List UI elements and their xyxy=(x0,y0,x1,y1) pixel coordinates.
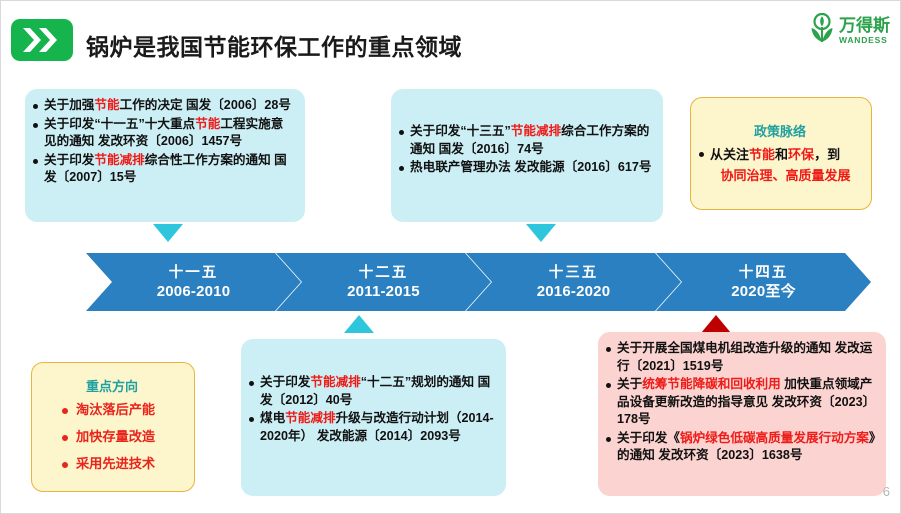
page-title: 锅炉是我国节能环保工作的重点领域 xyxy=(86,28,462,62)
timeline-label-cn: 十四五 xyxy=(739,264,789,282)
brand-name-cn: 万得斯 xyxy=(839,17,890,34)
timeline-label-years: 2016-2020 xyxy=(537,282,611,301)
plan-11th-bullet-list: 关于加强节能工作的决定 国发〔2006〕28号 关于印发“十一五”十大重点节能工… xyxy=(33,97,295,187)
list-item: 关于印发“十一五”十大重点节能工程实施意见的通知 发改环资〔2006〕1457号 xyxy=(33,116,295,151)
list-item: 煤电节能减排升级与改造行动计划（2014-2020年） 发改能源〔2014〕20… xyxy=(249,410,496,445)
policy-context-line2: 协同治理、高质量发展 xyxy=(699,166,861,186)
card-plan-11th: 关于加强节能工作的决定 国发〔2006〕28号 关于印发“十一五”十大重点节能工… xyxy=(25,89,305,222)
list-item: 从关注节能和环保，到 xyxy=(699,145,861,165)
timeline-label-years: 2006-2010 xyxy=(157,282,231,301)
policy-context-list: 从关注节能和环保，到 xyxy=(699,145,861,166)
list-item: 关于印发节能减排综合性工作方案的通知 国发〔2007〕15号 xyxy=(33,152,295,187)
card-key-directions: 重点方向 淘汰落后产能 加快存量改造 采用先进技术 xyxy=(31,362,195,492)
timeline-chevrons: 十一五 2006-2010 十二五 2011-2015 十三五 2016-202… xyxy=(1,253,901,315)
timeline-label-years: 2011-2015 xyxy=(347,282,420,301)
timeline-label-cn: 十二五 xyxy=(359,264,409,282)
list-item: 采用先进技术 xyxy=(62,451,184,477)
slide-canvas: 锅炉是我国节能环保工作的重点领域 万得斯 WANDESS 关于加强节能工作的决定… xyxy=(0,0,901,514)
timeline-label-cn: 十一五 xyxy=(169,264,219,282)
list-item: 关于印发《锅炉绿色低碳高质量发展行动方案》的通知 发改环资〔2023〕1638号 xyxy=(606,430,876,465)
card-plan-14th: 关于开展全国煤电机组改造升级的通知 发改运行〔2021〕1519号 关于统筹节能… xyxy=(598,332,886,496)
connector-triangle-up-14th xyxy=(701,315,731,333)
card-plan-12th: 关于印发节能减排“十二五”规划的通知 国发〔2012〕40号 煤电节能减排升级与… xyxy=(241,339,506,496)
timeline-item-12th[interactable]: 十二五 2011-2015 xyxy=(276,253,491,311)
list-item: 关于印发“十三五”节能减排综合工作方案的通知 国发〔2016〕74号 xyxy=(399,123,653,158)
plan-14th-bullet-list: 关于开展全国煤电机组改造升级的通知 发改运行〔2021〕1519号 关于统筹节能… xyxy=(606,340,876,465)
timeline-label-cn: 十三五 xyxy=(549,264,599,282)
list-item: 淘汰落后产能 xyxy=(62,397,184,423)
plan-12th-bullet-list: 关于印发节能减排“十二五”规划的通知 国发〔2012〕40号 煤电节能减排升级与… xyxy=(249,347,496,445)
connector-triangle-down-13th xyxy=(526,224,556,242)
timeline-item-13th[interactable]: 十三五 2016-2020 xyxy=(466,253,681,311)
card-plan-13th: 关于印发“十三五”节能减排综合工作方案的通知 国发〔2016〕74号 热电联产管… xyxy=(391,89,663,222)
key-directions-heading: 重点方向 xyxy=(40,376,184,395)
list-item: 关于印发节能减排“十二五”规划的通知 国发〔2012〕40号 xyxy=(249,374,496,409)
timeline-label-years: 2020至今 xyxy=(731,282,796,301)
timeline-item-14th[interactable]: 十四五 2020至今 xyxy=(656,253,871,311)
list-item: 关于统筹节能降碳和回收利用 加快重点领域产品设备更新改造的指导意见 发改环资〔2… xyxy=(606,376,876,429)
wandess-leaf-logo-icon xyxy=(809,13,835,48)
card-policy-context: 政策脉络 从关注节能和环保，到 协同治理、高质量发展 xyxy=(690,97,872,210)
plan-13th-bullet-list: 关于印发“十三五”节能减排综合工作方案的通知 国发〔2016〕74号 热电联产管… xyxy=(399,97,653,177)
policy-context-heading: 政策脉络 xyxy=(699,121,861,140)
list-item: 关于加强节能工作的决定 国发〔2006〕28号 xyxy=(33,97,295,115)
brand-name-en: WANDESS xyxy=(839,36,890,45)
list-item: 加快存量改造 xyxy=(62,424,184,450)
timeline-item-11th[interactable]: 十一五 2006-2010 xyxy=(86,253,301,311)
brand-logo: 万得斯 WANDESS xyxy=(809,13,890,48)
key-directions-list: 淘汰落后产能 加快存量改造 采用先进技术 xyxy=(40,397,184,478)
page-number: 6 xyxy=(883,484,890,499)
connector-triangle-down-11th xyxy=(153,224,183,242)
list-item: 热电联产管理办法 发改能源〔2016〕617号 xyxy=(399,159,653,177)
double-chevron-right-icon xyxy=(11,19,73,61)
connector-triangle-up-12th xyxy=(344,315,374,333)
slide-header: 锅炉是我国节能环保工作的重点领域 万得斯 WANDESS xyxy=(1,1,901,75)
list-item: 关于开展全国煤电机组改造升级的通知 发改运行〔2021〕1519号 xyxy=(606,340,876,375)
